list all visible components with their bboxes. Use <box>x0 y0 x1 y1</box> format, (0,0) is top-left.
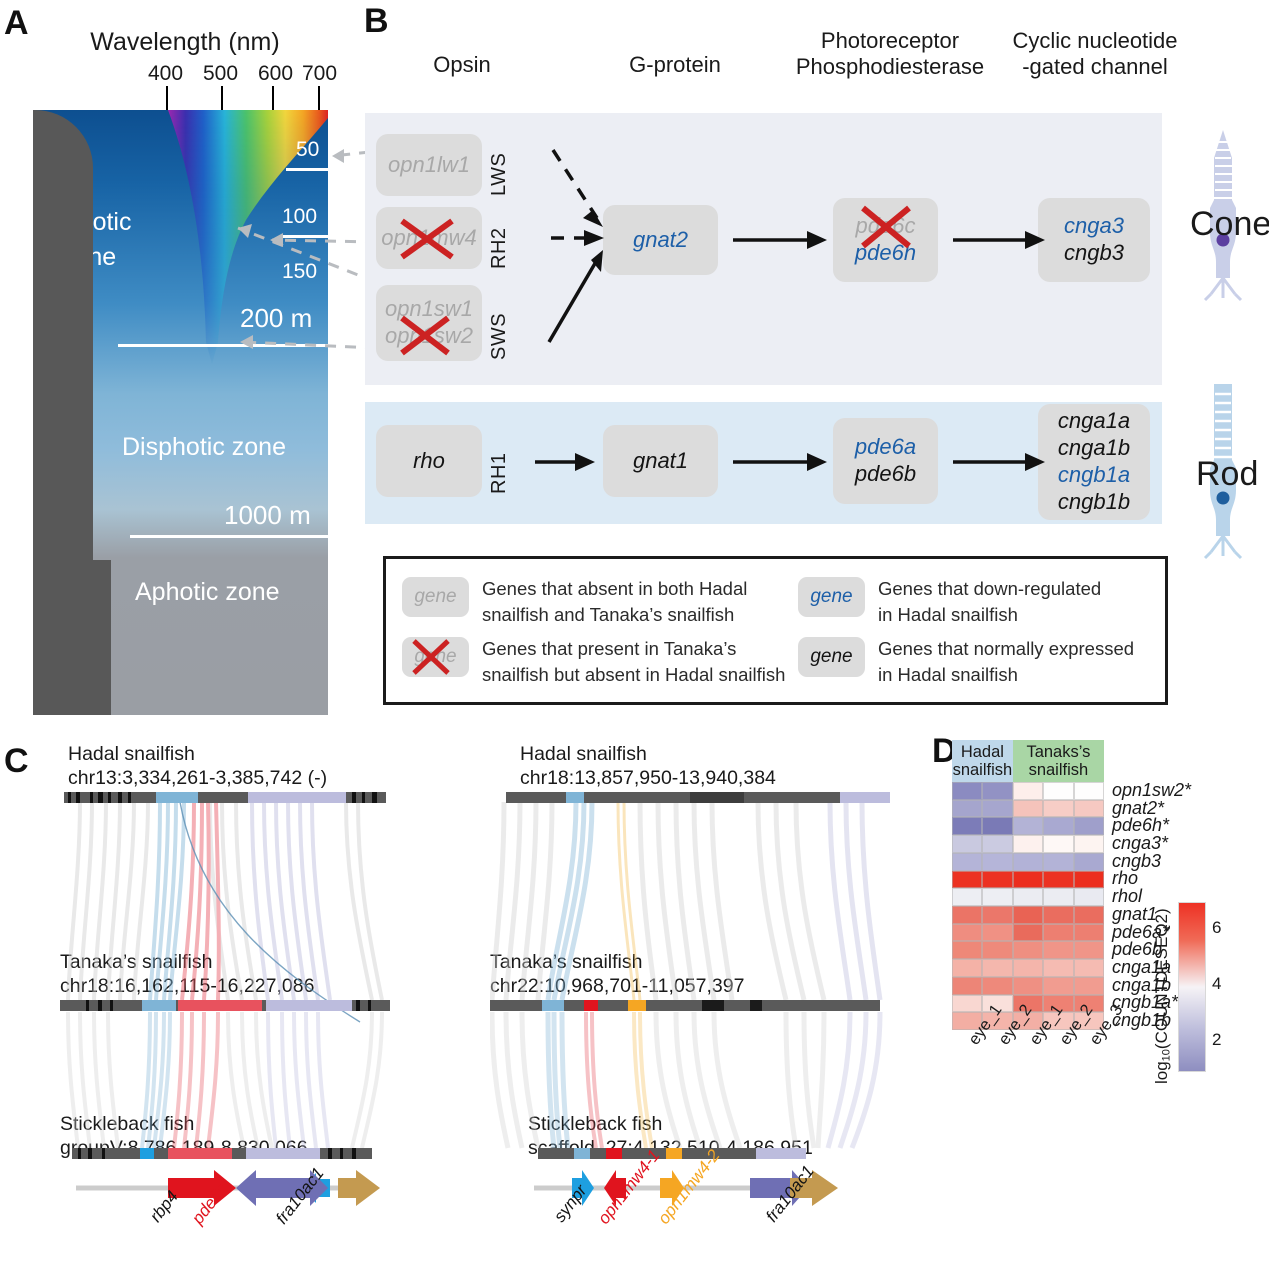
heatmap-cell <box>1013 782 1043 800</box>
tick-mark-400 <box>166 86 168 110</box>
heatmap-cell <box>1043 782 1073 800</box>
heatmap-cell <box>1013 906 1043 924</box>
heatmap-cell <box>1043 817 1073 835</box>
panel-b-label: B <box>364 2 389 41</box>
heatmap-cell <box>1074 871 1104 889</box>
legend-text-down-l1: Genes that down-regulated <box>878 577 1101 601</box>
heatmap-cell <box>1013 817 1043 835</box>
legend-box: gene Genes that absent in both Hadal sna… <box>383 556 1168 705</box>
gene-box-opn1lw1: opn1lw1 <box>376 134 482 196</box>
heatmap-cell <box>1074 817 1104 835</box>
heatmap-cell <box>1013 888 1043 906</box>
heatmap-cell <box>1013 977 1043 995</box>
heatmap-cell <box>1013 959 1043 977</box>
heatmap-cell <box>1074 924 1104 942</box>
panel-c-label: C <box>4 742 29 781</box>
legend-chip-text: gene <box>810 645 852 668</box>
heatmap-cell <box>982 871 1012 889</box>
group-header-line2: snailfish <box>1029 761 1089 779</box>
heatmap-cell <box>982 782 1012 800</box>
zone-connector-arrows <box>180 130 380 380</box>
heatmap-cell <box>1043 800 1073 818</box>
tick-mark-500 <box>221 86 223 110</box>
tick-mark-600 <box>272 86 274 110</box>
heatmap-cell <box>952 959 982 977</box>
column-header-pde-l1: Photoreceptor <box>790 28 990 53</box>
heatmap-group-header-0: Hadalsnailfish <box>952 740 1013 782</box>
legend-chip-text: gene <box>414 585 456 608</box>
heatmap-cell <box>1074 941 1104 959</box>
heatmap-cell <box>952 906 982 924</box>
legend-chip-crossed: gene <box>402 637 469 677</box>
heatmap-cell <box>982 977 1012 995</box>
rod-pathway-arrows <box>505 430 1165 500</box>
colorbar-title-sub: 10 <box>1160 1049 1172 1061</box>
column-header-opsin: Opsin <box>382 52 542 77</box>
gene-rho: rho <box>413 448 445 475</box>
heatmap-cell <box>982 835 1012 853</box>
wavelength-tick-600: 600 <box>258 62 293 86</box>
heatmap-cell <box>1043 871 1073 889</box>
legend-text-normal-l1: Genes that normally expressed <box>878 637 1134 661</box>
heatmap-cell <box>952 782 982 800</box>
heatmap-cell <box>1074 835 1104 853</box>
legend-text-normal-l2: in Hadal snailfish <box>878 663 1018 687</box>
heatmap-cell <box>1043 941 1073 959</box>
zone-label-aphotic: Aphotic zone <box>135 578 280 607</box>
heatmap-cell <box>952 853 982 871</box>
heatmap-cell <box>1043 888 1073 906</box>
group-header-line1: Tanaks’s <box>1026 743 1090 761</box>
heatmap-group-header-1: Tanaks’ssnailfish <box>1013 740 1104 782</box>
heatmap-cell <box>1074 977 1104 995</box>
zone-label-disphotic: Disphotic zone <box>122 433 286 462</box>
column-header-cng-l2: -gated channel <box>1000 54 1190 79</box>
legend-text-absent-l2: snailfish and Tanaka’s snailfish <box>482 603 734 627</box>
heatmap-cell <box>1074 888 1104 906</box>
heatmap-cell <box>952 977 982 995</box>
gene-opn1mw4: opn1mw4 <box>381 225 476 252</box>
heatmap-cell <box>952 800 982 818</box>
group-header-line2: snailfish <box>953 761 1013 779</box>
heatmap-cell <box>1013 941 1043 959</box>
heatmap-cell <box>952 924 982 942</box>
heatmap-cell <box>982 924 1012 942</box>
rod-cell-label: Rod <box>1196 455 1258 494</box>
heatmap-cell <box>1043 977 1073 995</box>
heatmap-cell <box>1043 924 1073 942</box>
heatmap-cell <box>1013 853 1043 871</box>
heatmap-column-labels: eye_1eye_2eye_1eye_2eye_3 <box>952 1034 1122 1124</box>
gene-box-rho: rho <box>376 425 482 497</box>
cone-cell-label: Cone <box>1190 205 1269 244</box>
heatmap-group-headers: HadalsnailfishTanaks’ssnailfish <box>952 740 1104 782</box>
gene-opn1sw1: opn1sw1 <box>385 296 473 323</box>
synteny-ribbons-left <box>60 732 390 1252</box>
heatmap-cell <box>1043 906 1073 924</box>
heatmap-cell <box>1013 871 1043 889</box>
legend-chip-absent: gene <box>402 577 469 617</box>
legend-chip-down: gene <box>798 577 865 617</box>
tick-mark-700 <box>318 86 320 110</box>
heatmap-cell <box>982 853 1012 871</box>
heatmap-cell <box>982 817 1012 835</box>
gene-box-opn1mw4: opn1mw4 <box>376 207 482 269</box>
colorbar-tick-2: 2 <box>1212 1030 1221 1050</box>
wavelength-tick-700: 700 <box>302 62 337 86</box>
heatmap-cell <box>952 888 982 906</box>
legend-text-down-l2: in Hadal snailfish <box>878 603 1018 627</box>
heatmap-cell <box>1013 924 1043 942</box>
heatmap-cell <box>1043 853 1073 871</box>
legend-text-absent-l1: Genes that absent in both Hadal <box>482 577 747 601</box>
gene-opn1sw2: opn1sw2 <box>385 323 473 350</box>
heatmap-cell <box>952 835 982 853</box>
legend-text-crossed-l1: Genes that present in Tanaka’s <box>482 637 736 661</box>
gene-opn1lw1: opn1lw1 <box>388 152 470 179</box>
heatmap-cell <box>1074 853 1104 871</box>
synteny-plot-right: Hadal snailfish chr18:13,857,950-13,940,… <box>490 732 890 1252</box>
heatmap-cell <box>982 800 1012 818</box>
depth-rule-1000m <box>130 535 328 538</box>
gene-box-opn1sw: opn1sw1 opn1sw2 <box>376 285 482 361</box>
heatmap-cell <box>1074 800 1104 818</box>
heatmap-cell <box>1013 835 1043 853</box>
wavelength-tick-400: 400 <box>148 62 183 86</box>
colorbar-tick-6: 6 <box>1212 918 1221 938</box>
heatmap-cell <box>952 871 982 889</box>
colorbar-title-pre: log <box>1152 1061 1171 1084</box>
colorbar-tick-4: 4 <box>1212 974 1221 994</box>
colorbar-title: log10(COUNTDESEQ2) <box>1152 894 1172 1084</box>
heatmap-cell <box>1043 959 1073 977</box>
wavelength-axis-title: Wavelength (nm) <box>20 28 350 57</box>
group-header-line1: Hadal <box>961 743 1004 761</box>
depth-label-1000m: 1000 m <box>224 500 311 531</box>
cone-pathway-arrows <box>505 130 1165 380</box>
heatmap-cell <box>952 995 982 1013</box>
column-header-cng-l1: Cyclic nucleotide <box>1000 28 1190 53</box>
wavelength-tick-500: 500 <box>203 62 238 86</box>
heatmap-cell <box>1013 800 1043 818</box>
heatmap-cell <box>1074 906 1104 924</box>
legend-chip-text: gene <box>810 585 852 608</box>
column-header-gprotein: G-protein <box>585 52 765 77</box>
panel-a: A Wavelength (nm) 400 500 600 700 <box>0 0 360 720</box>
colorbar <box>1178 902 1206 1072</box>
column-header-pde-l2: Phosphodiesterase <box>790 54 990 79</box>
legend-chip-normal: gene <box>798 637 865 677</box>
heatmap-cell <box>982 941 1012 959</box>
heatmap-cell <box>952 817 982 835</box>
heatmap-cell <box>1074 782 1104 800</box>
colorbar-title-post: (COUNTDESEQ2) <box>1152 908 1171 1049</box>
legend-chip-text: gene <box>414 645 456 668</box>
panel-c: C Hadal snailfish chr13:3,334,261-3,385,… <box>0 722 930 1263</box>
heatmap-cell <box>982 888 1012 906</box>
heatmap-cell <box>952 941 982 959</box>
heatmap-cell <box>982 906 1012 924</box>
heatmap-cell <box>982 959 1012 977</box>
heatmap-cell <box>1074 959 1104 977</box>
heatmap-grid <box>952 782 1104 1030</box>
legend-text-crossed-l2: snailfish but absent in Hadal snailfish <box>482 663 785 687</box>
seafloor-base <box>33 560 111 715</box>
panel-d: D HadalsnailfishTanaks’ssnailfish opn1sw… <box>930 722 1269 1263</box>
synteny-plot-left: Hadal snailfish chr13:3,334,261-3,385,74… <box>60 732 390 1252</box>
heatmap-cell <box>1043 835 1073 853</box>
